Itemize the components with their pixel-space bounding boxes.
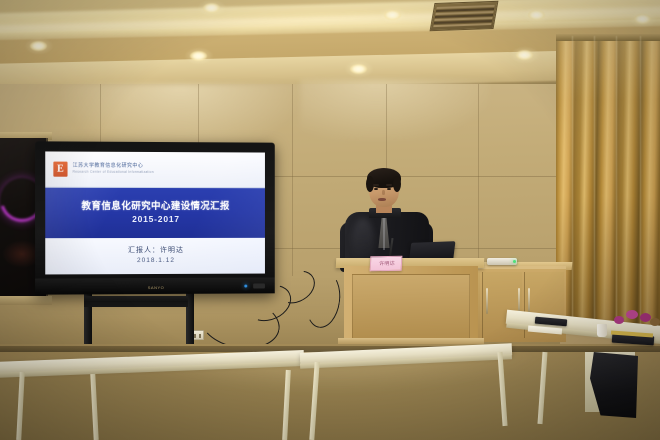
presenter-nose [382,190,385,195]
air-vent-icon [430,1,499,31]
slide-year-range: 2015-2017 [45,214,265,224]
slide-title-band: 教育信息化研究中心建设情况汇报 2015-2017 [45,188,265,238]
curtain-pleat [640,36,641,326]
flower-icon [650,318,660,326]
router-led-icon [513,260,516,263]
paper-cup[interactable] [597,324,607,337]
downlight-icon [634,14,651,24]
slide-footer: 汇报人：许明达 2018.1.12 [45,238,265,275]
presenter-eye [374,188,378,190]
cabinet-handle[interactable] [528,288,530,314]
flower-icon [614,316,624,324]
podium-front-panel [352,274,470,340]
curtain-pleat [616,36,617,326]
downlight-icon [190,51,207,61]
conference-room-photo: E 江苏大学教育信息化研究中心 Research Center of Educa… [0,0,660,440]
downlight-icon [203,3,220,13]
downlight-icon [528,10,545,20]
tv-stand-shelf [84,302,188,307]
name-card-text: 许明达 [371,260,403,268]
downlight-icon [384,10,401,20]
org-name-en: Research Center of Educational Informati… [73,170,154,174]
downlight-icon [350,64,367,74]
downlight-icon [516,50,533,60]
podium-name-card: 许明达 [370,256,403,272]
wall-light-sheen [300,80,490,140]
cabinet-handle[interactable] [486,288,488,314]
presenter-hair-side [393,176,401,192]
slide-presenter: 汇报人：许明达 [45,245,265,256]
jacket-zipper [383,216,385,250]
logo-letter: E [57,164,64,174]
slide-header: E 江苏大学教育信息化研究中心 Research Center of Educa… [45,151,265,188]
presenter-eye [387,188,391,190]
curtain-pleat [594,36,595,326]
flower-icon [626,310,638,319]
org-name-cn: 江苏大学教育信息化研究中心 [73,162,144,169]
presenter-eyebrow [386,184,392,186]
display-brand-label: SANYO [148,285,164,290]
power-led-icon [244,285,247,288]
presenter-mouth [378,198,386,201]
curtain-pleat [572,36,573,326]
wall-panel-seam [478,84,479,276]
wall-panel-seam [292,84,293,276]
window-sill [0,296,52,305]
flat-panel-display: E 江苏大学教育信息化研究中心 Research Center of Educa… [35,141,275,294]
slide-title: 教育信息化研究中心建设情况汇报 [45,198,265,212]
presenter-eyebrow [373,184,379,186]
downlight-icon [30,41,47,51]
display-screen: E 江苏大学教育信息化研究中心 Research Center of Educa… [45,151,265,274]
org-logo-icon: E [53,162,67,177]
slide-date: 2018.1.12 [45,257,265,265]
